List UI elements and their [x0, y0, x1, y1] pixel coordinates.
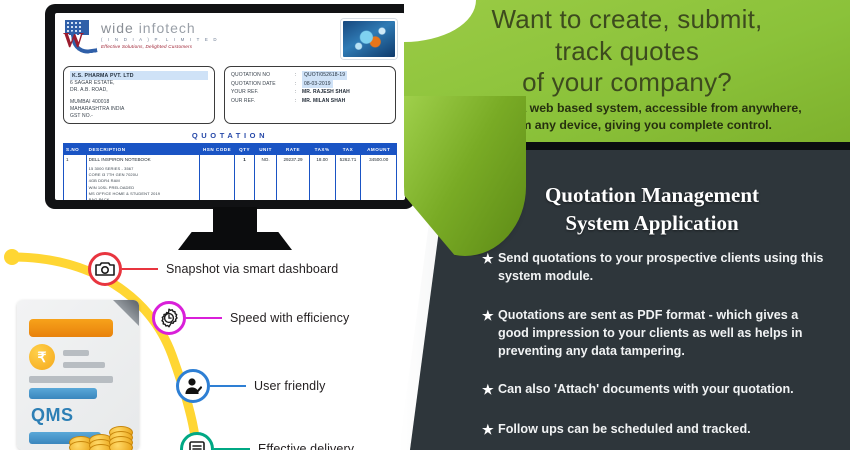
quotation-title: QUOTATION [63, 131, 397, 140]
feature-label: Snapshot via smart dashboard [158, 262, 338, 276]
company-logo: W wide infotech ( I N D I A ) P. L I M I… [63, 19, 219, 53]
meta-label: OUR REF. [231, 97, 295, 106]
customer-line-1: 6 SAGAR ESTATE, [70, 80, 208, 87]
star-icon: ★ [482, 421, 498, 439]
spec-line: BAG PACK [89, 197, 197, 200]
feature-item-effective-delivery[interactable]: Effective delivery [180, 432, 354, 450]
cell-hsn [199, 155, 235, 201]
col-unit: UNIT [254, 144, 277, 155]
user-check-icon [176, 369, 210, 403]
item-name: DELL INSPIRON NOTEBOOK [89, 157, 197, 162]
col-tax: TAX [335, 144, 361, 155]
meta-value: 08-03-2019 [302, 80, 333, 89]
qms-placeholder-line [63, 362, 105, 368]
document-header: W wide infotech ( I N D I A ) P. L I M I… [63, 19, 397, 63]
list-item-text: Send quotations to your prospective clie… [498, 250, 832, 286]
banner-headline: Want to create, submit, track quotes of … [404, 4, 850, 99]
banner-headline-line-2: track quotes [404, 36, 850, 68]
customer-line-4: MAHARASHTRA INDIA [70, 106, 208, 113]
meta-colon: : [295, 80, 302, 89]
monitor-neck [213, 207, 257, 234]
cell-description: DELL INSPIRON NOTEBOOK 15 3000 SERIES - … [86, 155, 199, 201]
meta-value: MR. MILAN SHAH [302, 97, 345, 106]
logo-subtitle: ( I N D I A ) P. L I M I T E D [101, 37, 219, 42]
qms-orange-bar [29, 319, 113, 337]
infographic-slide: W wide infotech ( I N D I A ) P. L I M I… [0, 0, 850, 450]
qms-placeholder-line [29, 376, 113, 383]
qms-document-card: ₹ QMS [17, 300, 139, 450]
cell-sno: 1 [64, 155, 87, 201]
meta-value: MR. RAJESH SHAH [302, 88, 350, 97]
gear-clock-icon [152, 301, 186, 335]
monitor-screen: W wide infotech ( I N D I A ) P. L I M I… [55, 13, 405, 200]
feature-label: User friendly [246, 379, 325, 393]
connector-line [186, 317, 222, 319]
document-icon [180, 432, 214, 450]
globe-network-icon [341, 19, 397, 59]
feature-item-speed[interactable]: Speed with efficiency [152, 301, 349, 335]
list-item-text: Follow ups can be scheduled and tracked. [498, 421, 832, 439]
cell-amount: 34500.00 [361, 155, 397, 201]
meta-label: YOUR REF. [231, 88, 295, 97]
list-item-text: Quotations are sent as PDF format - whic… [498, 307, 832, 361]
customer-line-3: MUMBAI 400018 [70, 99, 208, 106]
meta-row: YOUR REF. : MR. RAJESH SHAH [231, 88, 389, 97]
feature-label: Speed with efficiency [222, 311, 349, 325]
meta-value: QUOT/052618-19 [302, 71, 347, 80]
camera-icon [88, 252, 122, 286]
col-description: DESCRIPTION [86, 144, 199, 155]
meta-label: QUOTATION NO [231, 71, 295, 80]
col-sno: S.NO [64, 144, 87, 155]
customer-address-box: K.S. PHARMA PVT. LTD 6 SAGAR ESTATE, DR.… [63, 66, 215, 124]
logo-w-letter: W [63, 30, 82, 51]
star-icon: ★ [482, 381, 498, 399]
cell-taxpct: 18.00 [309, 155, 335, 201]
monitor-illustration: W wide infotech ( I N D I A ) P. L I M I… [45, 4, 415, 214]
logo-name-bold: infotech [139, 20, 196, 36]
qms-blue-bar [29, 388, 97, 399]
banner-headline-line-3: of your company? [404, 67, 850, 99]
meta-row: QUOTATION NO : QUOT/052618-19 [231, 71, 389, 80]
list-item: ★ Send quotations to your prospective cl… [482, 250, 832, 286]
qms-label: QMS [31, 405, 74, 426]
document-glyph [188, 440, 206, 450]
customer-name: K.S. PHARMA PVT. LTD [70, 71, 208, 80]
col-taxpct: TAX% [309, 144, 335, 155]
connector-line [122, 268, 158, 270]
logo-text: wide infotech ( I N D I A ) P. L I M I T… [101, 19, 219, 49]
panel-title-line-2: System Application [470, 210, 834, 238]
gear-clock-glyph [158, 307, 180, 329]
quotation-table: S.NO DESCRIPTION HSN CODE QTY UNIT RATE … [63, 143, 397, 200]
col-amount: AMOUNT [361, 144, 397, 155]
meta-colon: : [295, 71, 302, 80]
star-icon: ★ [482, 250, 498, 286]
user-check-glyph [182, 376, 204, 396]
table-header-row: S.NO DESCRIPTION HSN CODE QTY UNIT RATE … [64, 144, 397, 155]
list-item: ★ Quotations are sent as PDF format - wh… [482, 307, 832, 361]
star-icon: ★ [482, 307, 498, 361]
logo-company-name: wide infotech [101, 21, 219, 36]
rupee-coin-icon: ₹ [29, 344, 55, 370]
table-row: 1 DELL INSPIRON NOTEBOOK 15 3000 SERIES … [64, 155, 397, 201]
feature-label: Effective delivery [250, 442, 354, 450]
feature-item-snapshot[interactable]: Snapshot via smart dashboard [88, 252, 338, 286]
quotation-meta-box: QUOTATION NO : QUOT/052618-19 QUOTATION … [224, 66, 396, 124]
meta-row: OUR REF. : MR. MILAN SHAH [231, 97, 389, 106]
col-qty: QTY [235, 144, 254, 155]
meta-row: QUOTATION DATE : 08-03-2019 [231, 80, 389, 89]
list-item: ★ Follow ups can be scheduled and tracke… [482, 421, 832, 439]
meta-colon: : [295, 97, 302, 106]
gold-coins-icon [69, 422, 135, 450]
logo-mark-icon: W [63, 19, 97, 53]
cell-rate: 29237.29 [277, 155, 309, 201]
col-hsn: HSN CODE [199, 144, 235, 155]
logo-name-light: wide [101, 20, 139, 36]
meta-colon: : [295, 88, 302, 97]
cell-tax: 5262.71 [335, 155, 361, 201]
meta-label: QUOTATION DATE [231, 80, 295, 89]
customer-line-5: GST NO.- [70, 113, 208, 120]
banner-curl-fold [404, 96, 526, 256]
item-specs: 15 3000 SERIES - 3567 CORE I3 7TH GEN 70… [89, 166, 197, 200]
list-item: ★ Can also 'Attach' documents with your … [482, 381, 832, 399]
list-item-text: Can also 'Attach' documents with your qu… [498, 381, 832, 399]
qms-placeholder-line [63, 350, 89, 356]
document-info-boxes: K.S. PHARMA PVT. LTD 6 SAGAR ESTATE, DR.… [63, 66, 397, 124]
col-rate: RATE [277, 144, 309, 155]
quotation-document: W wide infotech ( I N D I A ) P. L I M I… [55, 13, 405, 200]
panel-bullet-list: ★ Send quotations to your prospective cl… [482, 250, 832, 450]
camera-glyph [95, 261, 115, 277]
connector-line [210, 385, 246, 387]
cell-qty: 1 [235, 155, 254, 201]
feature-item-user-friendly[interactable]: User friendly [176, 369, 325, 403]
customer-line-2: DR. A.B. ROAD, [70, 87, 208, 94]
cell-unit: NO. [254, 155, 277, 201]
logo-tagline: Effective Solutions, Delighted Customers [101, 44, 219, 49]
